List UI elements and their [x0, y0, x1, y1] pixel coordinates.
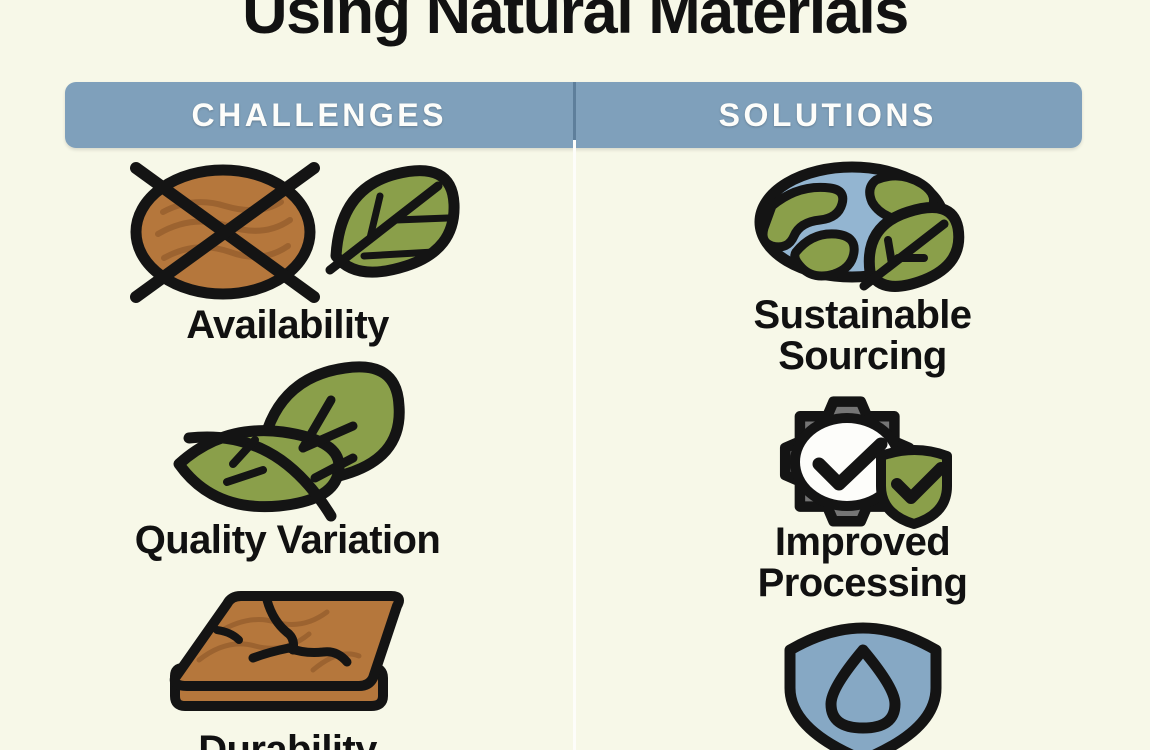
globe-with-leaf-icon: [748, 160, 978, 295]
challenge-label-quality-variation: Quality Variation: [135, 520, 440, 561]
solutions-column: Sustainable Sourcing Improved Processing: [575, 160, 1150, 750]
solution-item-improved-processing: Improved Processing: [575, 400, 1150, 604]
crossed-out-wood-slice-with-leaf-icon: [118, 160, 458, 305]
page-title: Using Natural Materials: [0, 0, 1150, 46]
two-leaves-icon: [163, 360, 413, 520]
solution-item-protection: Protection: [575, 620, 1150, 750]
header-label-challenges: CHALLENGES: [192, 97, 447, 134]
header-cell-challenges: CHALLENGES: [65, 82, 574, 148]
shield-with-water-drop-icon: [778, 620, 948, 750]
solution-label-improved-processing: Improved Processing: [758, 522, 968, 604]
column-headers-bar: CHALLENGES SOLUTIONS: [65, 82, 1082, 148]
header-divider: [573, 82, 576, 148]
header-cell-solutions: SOLUTIONS: [574, 82, 1083, 148]
challenge-item-quality-variation: Quality Variation: [0, 360, 575, 561]
header-label-solutions: SOLUTIONS: [719, 97, 937, 134]
challenges-column: Availability Quality Vari: [0, 160, 575, 750]
challenge-label-availability: Availability: [186, 305, 389, 346]
challenge-label-durability: Durability: [198, 730, 376, 750]
cracked-wood-plank-icon: [163, 590, 413, 730]
solution-item-sustainable-sourcing: Sustainable Sourcing: [575, 160, 1150, 377]
solution-label-sustainable-sourcing: Sustainable Sourcing: [754, 295, 972, 377]
challenge-item-durability: Durability: [0, 590, 575, 750]
challenge-item-availability: Availability: [0, 160, 575, 346]
gear-with-checkmark-and-shield-icon: [745, 400, 980, 522]
infographic-page: Using Natural Materials CHALLENGES SOLUT…: [0, 0, 1150, 750]
